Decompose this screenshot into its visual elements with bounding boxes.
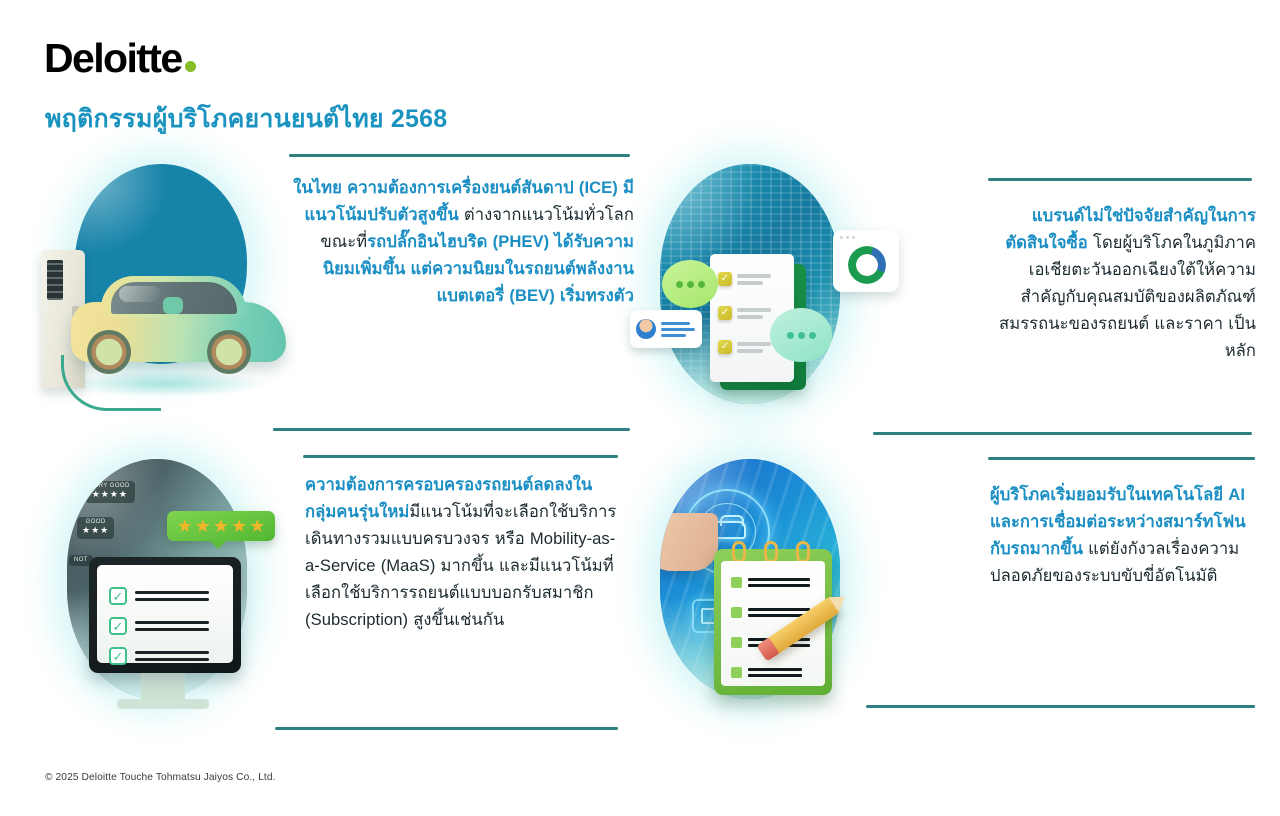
divider-bottom bbox=[275, 727, 618, 730]
card-ice-phev-bev: ในไทย ความต้องการเครื่องยนต์สันดาป (ICE)… bbox=[0, 150, 640, 445]
divider-top bbox=[988, 178, 1252, 181]
checkbox-checked-icon: ✓ bbox=[109, 587, 127, 605]
chat-bubble-icon bbox=[770, 308, 832, 362]
monitor-icon: ✓ ✓ ✓ bbox=[89, 557, 241, 673]
five-star-rating-icon: ★★★★★ bbox=[167, 511, 275, 541]
checkbox-checked-icon bbox=[731, 637, 742, 648]
divider-top bbox=[303, 455, 618, 458]
divider-bottom bbox=[273, 428, 630, 431]
checkbox-checked-icon: ✓ bbox=[109, 617, 127, 635]
card-brand-not-key-factor: ✓ ✓ ✓ bbox=[640, 150, 1280, 445]
chat-bubble-icon bbox=[662, 260, 718, 308]
divider-bottom bbox=[866, 705, 1255, 708]
page-title: พฤติกรรมผู้บริโภคยานยนต์ไทย 2568 bbox=[45, 104, 447, 134]
monitor-base bbox=[117, 699, 209, 709]
card-maas-subscription: VERY GOOD★★★★ GOOD★★★ NOT bbox=[0, 445, 640, 740]
checkbox-checked-icon: ✓ bbox=[109, 647, 127, 665]
card-body-text: ผู้บริโภคเริ่มยอมรับในเทคโนโลยี AI และกา… bbox=[990, 481, 1258, 589]
charging-cable-icon bbox=[61, 355, 161, 411]
illustration-ai-touchscreen-notepad-pencil bbox=[648, 453, 878, 718]
footer-copyright: © 2025 Deloitte Touche Tohmatsu Jaiyos C… bbox=[45, 772, 276, 783]
card-ai-connectivity: ผู้บริโภคเริ่มยอมรับในเทคโนโลยี AI และกา… bbox=[640, 445, 1280, 740]
infographic-page: Deloitte พฤติกรรมผู้บริโภคยานยนต์ไทย 256… bbox=[0, 0, 1280, 816]
checkbox-checked-icon bbox=[731, 577, 742, 588]
hand-pointing-icon bbox=[660, 513, 718, 571]
card-text-block: แบรนด์ไม่ใช่ปัจจัยสำคัญในการตัดสินใจซื้อ… bbox=[878, 150, 1280, 445]
deloitte-logo: Deloitte bbox=[44, 38, 196, 79]
text-segment-emphasis: รถปลั๊กอินไฮบริด (PHEV) ได้รับความนิยมเพ… bbox=[323, 232, 634, 305]
card-text-block: ความต้องการครอบครองรถยนต์ลดลงในกลุ่มคนรุ… bbox=[285, 445, 640, 740]
rating-chip: VERY GOOD★★★★ bbox=[85, 481, 135, 503]
card-text-block: ผู้บริโภคเริ่มยอมรับในเทคโนโลยี AI และกา… bbox=[878, 445, 1280, 740]
logo-wordmark: Deloitte bbox=[44, 35, 182, 81]
divider-top bbox=[289, 154, 630, 157]
divider-top bbox=[988, 457, 1255, 460]
checkbox-checked-icon: ✓ bbox=[718, 306, 732, 320]
illustration-monitor-checklist-five-star-review: VERY GOOD★★★★ GOOD★★★ NOT bbox=[55, 453, 285, 718]
divider-bottom bbox=[873, 432, 1252, 435]
text-segment-plain: โดยผู้บริโภคในภูมิภาคเอเชียตะวันออกเฉียง… bbox=[999, 233, 1256, 360]
green-dot-icon bbox=[185, 61, 196, 72]
spiral-ring-icon bbox=[732, 541, 746, 563]
illustration-ev-car-charging-station bbox=[55, 158, 285, 423]
cards-grid: ในไทย ความต้องการเครื่องยนต์สันดาป (ICE)… bbox=[0, 150, 1280, 740]
spiral-ring-icon bbox=[764, 541, 778, 563]
rating-chip: GOOD★★★ bbox=[77, 517, 114, 539]
checkbox-checked-icon bbox=[731, 667, 742, 678]
card-text-block: ในไทย ความต้องการเครื่องยนต์สันดาป (ICE)… bbox=[285, 150, 640, 445]
card-body-text: แบรนด์ไม่ใช่ปัจจัยสำคัญในการตัดสินใจซื้อ… bbox=[990, 202, 1256, 364]
avatar-icon bbox=[636, 319, 656, 339]
illustration-checklist-chat-donut-chart: ✓ ✓ ✓ bbox=[648, 158, 878, 423]
checkbox-checked-icon: ✓ bbox=[718, 272, 732, 286]
text-segment-plain: มีแนวโน้มที่จะเลือกใช้บริการเดินทางรวมแบ… bbox=[305, 502, 616, 629]
card-body-text: ในไทย ความต้องการเครื่องยนต์สันดาป (ICE)… bbox=[291, 174, 634, 309]
card-body-text: ความต้องการครอบครองรถยนต์ลดลงในกลุ่มคนรุ… bbox=[305, 471, 622, 633]
spiral-ring-icon bbox=[796, 541, 810, 563]
checkbox-checked-icon bbox=[731, 607, 742, 618]
checkbox-checked-icon: ✓ bbox=[718, 340, 732, 354]
user-message-card bbox=[630, 310, 702, 348]
